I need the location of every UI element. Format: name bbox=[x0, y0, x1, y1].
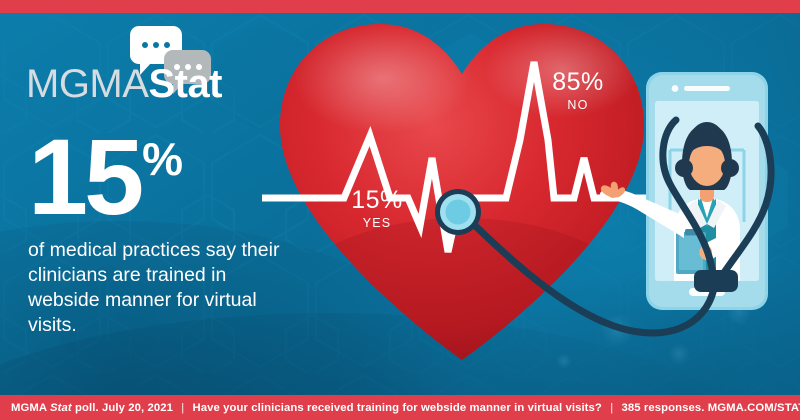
stat-percent-symbol: % bbox=[142, 133, 182, 185]
bubble-dots bbox=[142, 42, 170, 48]
callout-yes: 15% YES bbox=[344, 188, 410, 230]
callout-no: 85% NO bbox=[542, 70, 614, 112]
top-accent-bar bbox=[0, 0, 800, 13]
footer-bar: MGMA Stat poll. July 20, 2021 | Have you… bbox=[0, 395, 800, 420]
logo-wordmark: MGMAStat bbox=[26, 64, 222, 104]
callout-no-percent: 85% bbox=[542, 70, 614, 95]
infographic-canvas: MGMAStat 15% of medical practices say th… bbox=[0, 0, 800, 420]
logo-stat-text: Stat bbox=[148, 62, 222, 106]
footer-separator-1: | bbox=[176, 402, 189, 414]
callout-yes-answer: YES bbox=[344, 217, 410, 230]
doctor-arm bbox=[598, 168, 684, 244]
headline-stat-block: 15% of medical practices say their clini… bbox=[28, 128, 288, 338]
mgma-stat-logo: MGMAStat bbox=[26, 24, 246, 104]
callout-no-answer: NO bbox=[542, 99, 614, 112]
stat-description: of medical practices say their clinician… bbox=[28, 238, 288, 338]
footer-responses: 385 responses. MGMA.COM/STAT, #MGMASTAT bbox=[621, 402, 800, 414]
bokeh-dot bbox=[668, 343, 690, 365]
footer-question: Have your clinicians received training f… bbox=[193, 402, 602, 414]
footer-source-line: MGMA Stat poll. July 20, 2021 | Have you… bbox=[0, 402, 800, 414]
footer-brand: MGMA bbox=[11, 402, 47, 414]
logo-mgma-text: MGMA bbox=[26, 62, 148, 106]
footer-brand-italic: Stat bbox=[50, 402, 72, 414]
stat-number-row: 15% bbox=[28, 128, 288, 226]
footer-separator-2: | bbox=[605, 402, 618, 414]
footer-source-rest: poll. July 20, 2021 bbox=[75, 402, 173, 414]
callout-yes-percent: 15% bbox=[344, 188, 410, 213]
stat-number: 15 bbox=[28, 128, 140, 226]
